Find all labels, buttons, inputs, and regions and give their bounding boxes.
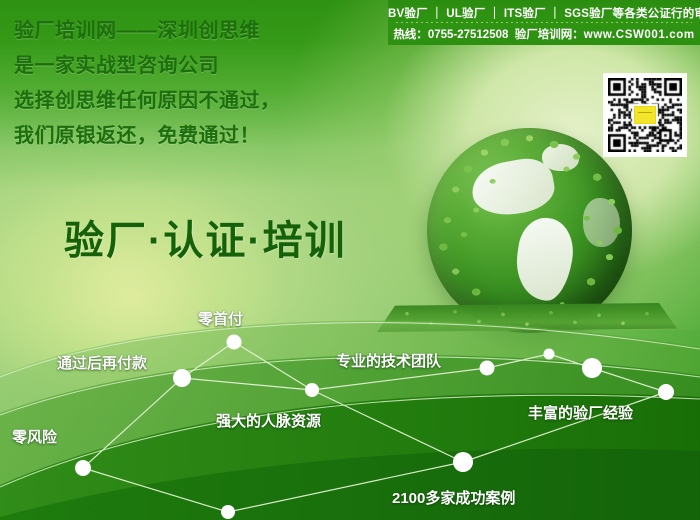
slogan-text: 验厂·认证·培训 bbox=[64, 208, 347, 266]
node-zero-down[interactable] bbox=[227, 335, 242, 350]
node-tech-team[interactable] bbox=[480, 361, 495, 376]
top-banner: BV验厂 ｜ UL验厂 ｜ ITS验厂 ｜ SGS验厂等各类公证行的审核 热线：… bbox=[388, 0, 700, 45]
qr-center-logo bbox=[634, 106, 656, 124]
node-bottom-left[interactable] bbox=[221, 505, 235, 519]
network-label-zero-risk: 零风险 bbox=[12, 426, 57, 447]
banner-contact: 热线：0755-27512508 验厂培训网：www.CSW001.com bbox=[388, 26, 700, 42]
network-label-zero-down-payment: 零首付 bbox=[198, 308, 243, 329]
node-mid[interactable] bbox=[305, 383, 319, 397]
node-zero-risk[interactable] bbox=[75, 460, 91, 476]
headline-line-2: 是一家实战型咨询公司 bbox=[14, 49, 394, 84]
network-graphic bbox=[0, 255, 700, 520]
network-label-success-cases: 2100多家成功案例 bbox=[392, 487, 515, 508]
banner-certifications: BV验厂 ｜ UL验厂 ｜ ITS验厂 ｜ SGS验厂等各类公证行的审核 bbox=[388, 5, 700, 21]
hotline-number: 0755-27512508 bbox=[428, 29, 509, 41]
node-far-right[interactable] bbox=[658, 384, 674, 400]
site-url[interactable]: www.CSW001.com bbox=[584, 29, 695, 41]
qr-code[interactable] bbox=[605, 75, 685, 155]
node-big-right[interactable] bbox=[582, 358, 602, 378]
network-label-pay-after-pass: 通过后再付款 bbox=[57, 352, 147, 373]
node-pay-after[interactable] bbox=[173, 369, 191, 387]
headline-block: 验厂培训网——深圳创思维 是一家实战型咨询公司 选择创思维任何原因不通过， 我们… bbox=[14, 14, 394, 154]
hotline-label: 热线： bbox=[393, 29, 428, 41]
network-label-pro-tech-team: 专业的技术团队 bbox=[336, 350, 441, 371]
site-label: 验厂培训网： bbox=[515, 29, 584, 41]
network-label-rich-experience: 丰富的验厂经验 bbox=[528, 402, 633, 423]
node-bottom-mid[interactable] bbox=[453, 452, 473, 472]
node-top-right[interactable] bbox=[544, 349, 555, 360]
headline-line-1: 验厂培训网——深圳创思维 bbox=[14, 14, 394, 49]
network-label-strong-network: 强大的人脉资源 bbox=[216, 410, 321, 431]
banner-divider bbox=[396, 22, 692, 23]
headline-line-3: 选择创思维任何原因不通过， bbox=[14, 84, 394, 119]
headline-line-4: 我们原银返还，免费通过！ bbox=[14, 119, 394, 154]
promo-poster: 零首付通过后再付款零风险专业的技术团队强大的人脉资源丰富的验厂经验2100多家成… bbox=[0, 0, 700, 520]
